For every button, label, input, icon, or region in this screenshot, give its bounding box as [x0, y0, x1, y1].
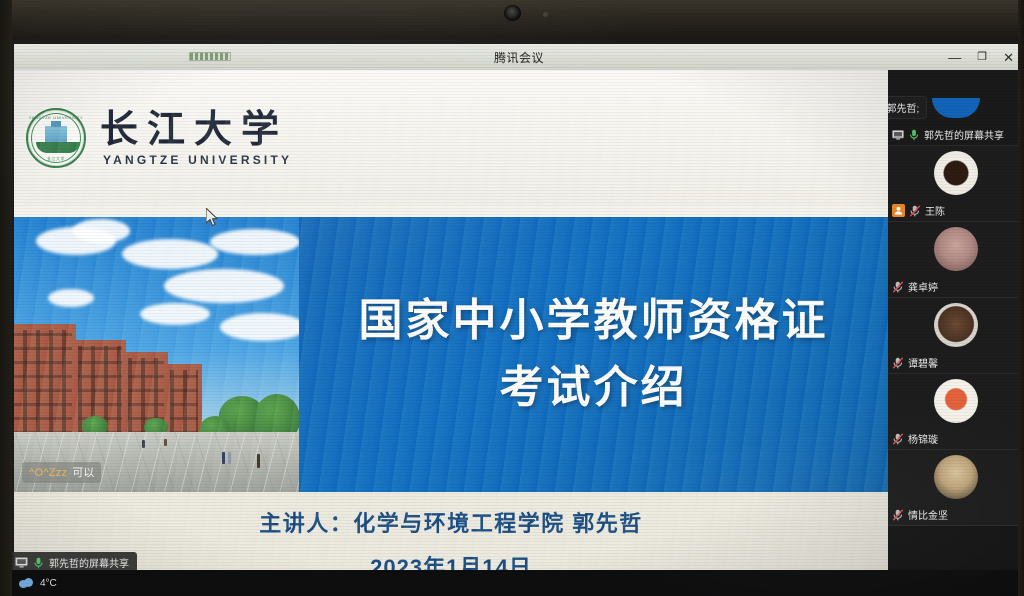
avatar: [934, 455, 978, 499]
participant-name: 杨锦璇: [908, 431, 938, 446]
participant-name: 龚卓婷: [908, 279, 938, 294]
participant-tile-2[interactable]: 龚卓婷: [888, 222, 1024, 298]
shared-slide[interactable]: YANGTZE UNIVERSITY 长江大学 长江大学 YANGTZE UNI…: [14, 70, 888, 596]
slide-title-block: 国家中小学教师资格证 考试介绍: [299, 217, 888, 492]
weather-icon: [18, 577, 34, 589]
university-seal-icon: YANGTZE UNIVERSITY 长江大学: [26, 108, 86, 168]
chat-sender-name: ^O^Zzz: [29, 467, 67, 479]
mic-muted-icon: [892, 433, 904, 445]
close-button[interactable]: ✕: [1003, 51, 1014, 64]
mic-on-icon: [908, 129, 920, 141]
university-name-en: YANGTZE UNIVERSITY: [103, 153, 292, 167]
participant-name: 王陈: [925, 203, 945, 218]
window-controls: — ❐ ✕: [948, 44, 1018, 70]
participant-name: 谭碧馨: [908, 355, 938, 370]
laptop-left-bezel: [0, 0, 12, 596]
laptop-photo-frame: 腾讯会议 — ❐ ✕ YANGTZE UNIVERSITY 长江大学 长江大学: [0, 0, 1024, 596]
active-speaker-text: 正在讲话: 郭先哲;: [888, 100, 919, 115]
mic-muted-icon: [892, 357, 904, 369]
mouse-cursor-icon: [206, 208, 220, 228]
avatar: [934, 379, 978, 423]
restore-button[interactable]: ❐: [977, 52, 987, 63]
participant-tile-5[interactable]: 情比金坚: [888, 450, 1024, 526]
participant-namebar: 龚卓婷: [892, 279, 1020, 294]
participant-name: 情比金坚: [908, 507, 948, 522]
slide-title-line-2: 考试介绍: [500, 363, 688, 414]
participant-name: 郭先哲的屏幕共享: [924, 127, 1004, 142]
university-wordmark: 长江大学 YANGTZE UNIVERSITY: [100, 109, 292, 167]
participants-rail[interactable]: 正在讲话: 郭先哲;: [888, 70, 1024, 596]
screen-share-status-text: 郭先哲的屏幕共享: [49, 555, 129, 570]
webcam-led-icon: [543, 12, 548, 17]
chat-message-overlay: ^O^Zzz 可以: [22, 462, 101, 483]
participant-namebar: 情比金坚: [892, 507, 1020, 522]
participant-namebar: 谭碧馨: [892, 355, 1020, 370]
user-badge-icon: [892, 204, 905, 217]
seal-arc-text: YANGTZE UNIVERSITY: [28, 115, 84, 120]
mic-muted-icon: [909, 205, 921, 217]
participant-tile-1[interactable]: 王陈: [888, 146, 1024, 222]
active-speaker-chip: 正在讲话: 郭先哲;: [888, 96, 927, 119]
mic-muted-icon: [892, 509, 904, 521]
laptop-right-bezel: [1018, 0, 1024, 596]
monitor-icon: [892, 129, 904, 141]
laptop-top-bezel: [0, 0, 1024, 40]
avatar: [934, 303, 978, 347]
webcam-icon: [504, 5, 521, 21]
mic-muted-icon: [892, 281, 904, 293]
participant-namebar: 杨锦璇: [892, 431, 1020, 446]
windows-taskbar[interactable]: 4°C: [10, 570, 1024, 596]
avatar: [934, 151, 978, 195]
campus-buildings: [14, 324, 226, 440]
participant-tile-3[interactable]: 谭碧馨: [888, 298, 1024, 374]
seal-bottom-text: 长江大学: [28, 156, 84, 162]
campus-photo: [14, 217, 299, 492]
chat-message-text: 可以: [72, 464, 94, 480]
mic-on-icon: [34, 557, 43, 569]
participant-namebar: 郭先哲的屏幕共享: [892, 127, 1020, 142]
monitor-icon: [15, 557, 28, 568]
weather-temperature: 4°C: [40, 578, 57, 589]
participant-tile-4[interactable]: 杨锦璇: [888, 374, 1024, 450]
university-name-cn: 长江大学: [100, 109, 292, 149]
slide-presenter: 主讲人：化学与环境工程学院 郭先哲: [259, 506, 643, 538]
avatar: [934, 227, 978, 271]
window-titlebar: 腾讯会议 — ❐ ✕: [14, 44, 1024, 70]
minimize-button[interactable]: —: [948, 51, 961, 64]
participant-namebar: 王陈: [892, 203, 1020, 218]
window-title: 腾讯会议: [14, 49, 1024, 66]
slide-title-line-1: 国家中小学教师资格证: [359, 296, 829, 347]
slide-header: YANGTZE UNIVERSITY 长江大学 长江大学 YANGTZE UNI…: [14, 70, 888, 206]
laptop-screen: 腾讯会议 — ❐ ✕ YANGTZE UNIVERSITY 长江大学 长江大学: [10, 40, 1024, 596]
